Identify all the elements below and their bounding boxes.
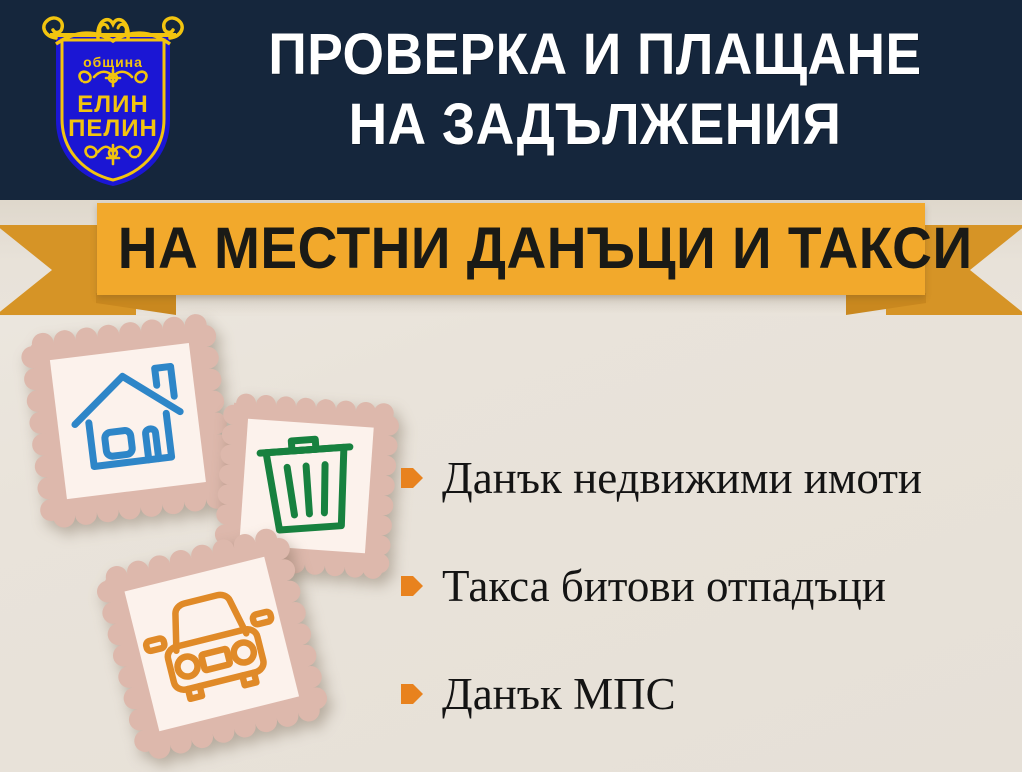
tax-type-list: Данък недвижими имоти Такса битови отпад…: [400, 424, 1014, 748]
arrow-bullet-icon: [400, 573, 424, 599]
list-item-label: Такса битови отпадъци: [442, 564, 886, 609]
list-item[interactable]: Данък недвижими имоти: [400, 424, 1014, 532]
arrow-bullet-icon: [400, 681, 424, 707]
coat-of-arms-icon: община ЕЛИН ПЕЛИН: [38, 8, 188, 190]
ribbon-main-band: НА МЕСТНИ ДАНЪЦИ И ТАКСИ: [97, 203, 925, 295]
list-item-label: Данък МПС: [442, 672, 676, 717]
stamp-card-vehicle: [96, 528, 346, 772]
list-item[interactable]: Такса битови отпадъци: [400, 532, 1014, 640]
ribbon-text: НА МЕСТНИ ДАНЪЦИ И ТАКСИ: [118, 203, 905, 295]
list-item-label: Данък недвижими имоти: [442, 456, 922, 501]
svg-text:община: община: [83, 54, 143, 70]
arrow-bullet-icon: [400, 465, 424, 491]
svg-text:ЕЛИН: ЕЛИН: [77, 91, 148, 118]
ribbon-banner: НА МЕСТНИ ДАНЪЦИ И ТАКСИ: [0, 203, 1022, 315]
svg-text:ПЕЛИН: ПЕЛИН: [68, 115, 158, 142]
poster-root: ПРОВЕРКА И ПЛАЩАНЕ НА ЗАДЪЛЖЕНИЯ община: [0, 0, 1022, 772]
list-item[interactable]: Данък МПС: [400, 640, 1014, 748]
page-title: ПРОВЕРКА И ПЛАЩАНЕ НА ЗАДЪЛЖЕНИЯ: [218, 20, 972, 160]
